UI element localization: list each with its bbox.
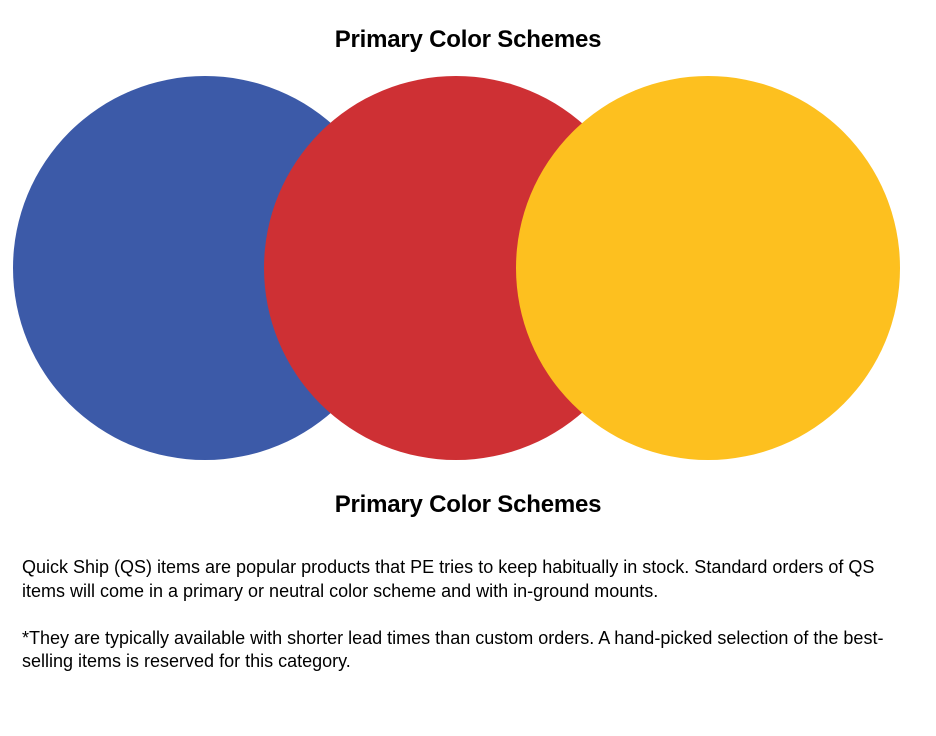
primary-color-circle-yellow [516, 76, 900, 460]
body-copy: Quick Ship (QS) items are popular produc… [22, 556, 902, 674]
description-paragraph-1: Quick Ship (QS) items are popular produc… [22, 556, 902, 603]
slide-canvas: Primary Color Schemes Primary Color Sche… [0, 0, 936, 736]
description-paragraph-2: *They are typically available with short… [22, 627, 902, 674]
page-title-bottom: Primary Color Schemes [0, 491, 936, 519]
color-scheme-diagram [0, 0, 936, 480]
